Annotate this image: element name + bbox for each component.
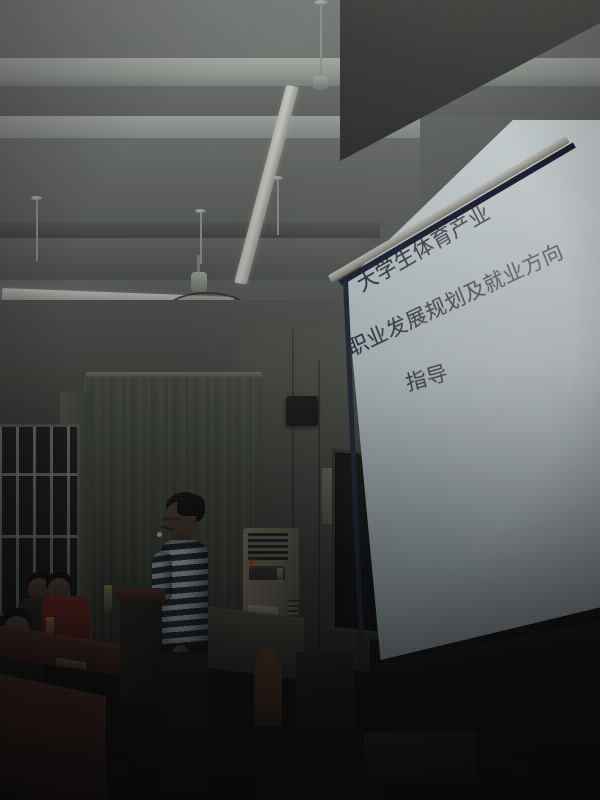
- ceiling-panel-4: [0, 238, 360, 280]
- pendant-rod-1: [320, 3, 322, 79]
- podium-top: [116, 588, 164, 600]
- fan-motor-center: [191, 272, 207, 292]
- projection-screen: 大学生体育产业 职业发展规划及就业方向 指导: [336, 120, 600, 660]
- wooden-chair: [254, 648, 282, 726]
- pendant-rod-3: [200, 212, 202, 264]
- equipment-case: [296, 652, 354, 748]
- stool: [364, 732, 476, 778]
- window-rail-2: [0, 535, 77, 538]
- presenter-hair-top: [177, 494, 205, 516]
- ac-power-indicator[interactable]: [250, 561, 254, 565]
- headset-mic-capsule: [157, 532, 162, 537]
- ceiling-beam-shadow: [0, 222, 380, 238]
- wall-speaker: [286, 396, 318, 426]
- water-bottle-1: [104, 588, 112, 612]
- pendant-rod-2: [36, 199, 38, 261]
- podium: [120, 594, 162, 702]
- wall-seam-2: [318, 360, 320, 650]
- lecture-hall-photo: 大学生体育产业 职业发展规划及就业方向 指导: [0, 0, 600, 800]
- bottle-cap-2: [46, 617, 54, 621]
- ceiling-panel-2: [0, 86, 600, 116]
- window-rail-1: [0, 473, 77, 476]
- bottle-cap-1: [104, 585, 112, 589]
- light-mount-1: [313, 76, 328, 90]
- pendant-rod-4: [277, 179, 279, 235]
- ac-top-bottle: [277, 568, 283, 584]
- presenter-legs: [162, 652, 208, 800]
- ac-vent-louvers: [248, 533, 288, 561]
